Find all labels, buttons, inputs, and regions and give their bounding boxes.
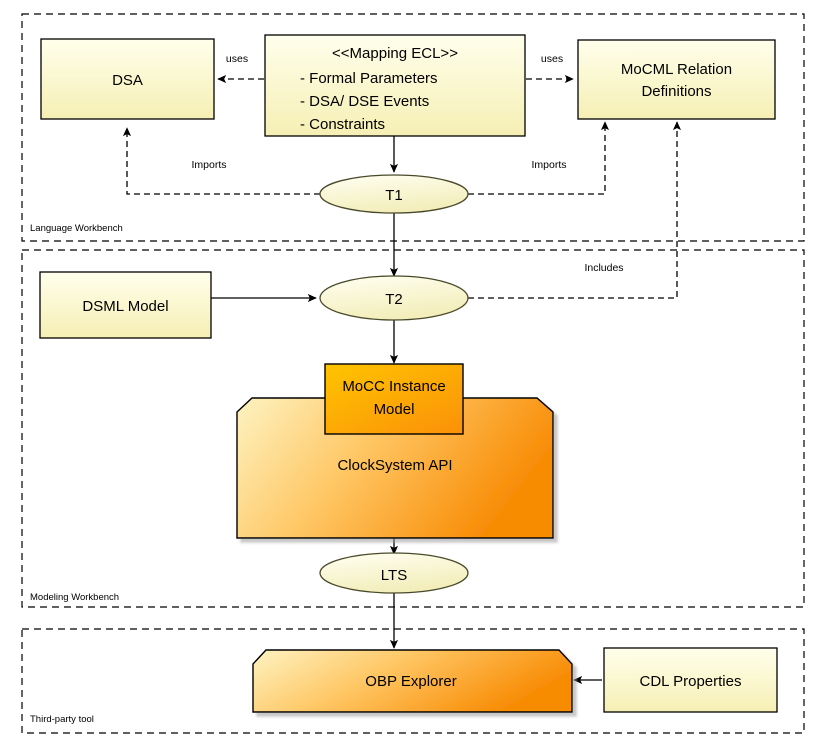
edge-imports-right-label: Imports: [531, 159, 566, 171]
node-mapping-ecl-line-2: - Constraints: [300, 116, 385, 133]
node-cdl-properties-label: CDL Properties: [640, 673, 742, 690]
edge-imports-left-label: Imports: [191, 159, 226, 171]
node-mocc-instance-model[interactable]: MoCC Instance Model: [325, 364, 463, 434]
node-obp-explorer[interactable]: OBP Explorer: [253, 650, 572, 712]
node-dsa-label: DSA: [112, 72, 143, 89]
node-mapping-ecl-line-1: - DSA/ DSE Events: [300, 93, 429, 110]
node-lts-label: LTS: [381, 567, 407, 584]
node-mocml-relation-definitions[interactable]: MoCML Relation Definitions: [578, 40, 775, 119]
edge-uses-left: uses: [218, 53, 264, 79]
node-obp-explorer-label: OBP Explorer: [365, 673, 456, 690]
node-mocml-relation-definitions-line-1: Definitions: [641, 83, 711, 100]
node-mocc-instance-model-line-1: Model: [374, 401, 415, 418]
edge-uses-right: uses: [526, 53, 573, 79]
edge-includes-label: Includes: [584, 262, 623, 274]
container-third-party-tool-label: Third-party tool: [30, 714, 94, 725]
node-cdl-properties[interactable]: CDL Properties: [604, 648, 777, 712]
node-mapping-ecl[interactable]: <<Mapping ECL>> - Formal Parameters - DS…: [265, 35, 525, 136]
edge-uses-right-label: uses: [541, 53, 563, 65]
node-dsml-model-label: DSML Model: [82, 298, 168, 315]
node-t2[interactable]: T2: [320, 276, 468, 320]
edge-imports-left: Imports: [127, 128, 320, 194]
node-mocc-instance-model-box[interactable]: [325, 364, 463, 434]
edge-includes: Includes: [468, 122, 677, 298]
node-lts[interactable]: LTS: [320, 553, 468, 593]
edge-includes-line: [468, 122, 677, 298]
container-language-workbench-label: Language Workbench: [30, 223, 123, 234]
node-t1[interactable]: T1: [320, 175, 468, 213]
node-dsml-model[interactable]: DSML Model: [40, 272, 211, 338]
node-mocml-relation-definitions-line-0: MoCML Relation: [621, 61, 732, 78]
node-dsa[interactable]: DSA: [41, 39, 214, 119]
node-mocml-relation-definitions-box[interactable]: [578, 40, 775, 119]
architecture-diagram: Language Workbench Modeling Workbench Th…: [0, 0, 821, 746]
container-modeling-workbench-label: Modeling Workbench: [30, 592, 119, 603]
node-clocksystem-api-label: ClockSystem API: [337, 457, 452, 474]
node-t2-label: T2: [385, 291, 403, 308]
node-mapping-ecl-title: <<Mapping ECL>>: [332, 45, 458, 62]
edge-uses-left-label: uses: [226, 53, 248, 65]
node-mocc-instance-model-line-0: MoCC Instance: [342, 378, 445, 395]
node-t1-label: T1: [385, 187, 403, 204]
node-mapping-ecl-line-0: - Formal Parameters: [300, 70, 438, 87]
